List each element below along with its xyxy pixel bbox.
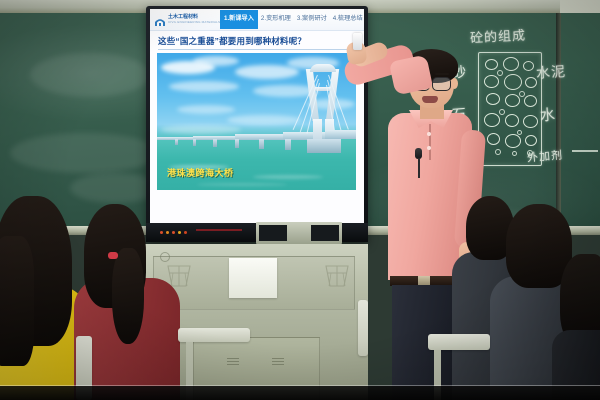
presentation-clicker[interactable]: [353, 33, 362, 50]
teacher-eyebrow: [435, 73, 449, 75]
indicator-led: [172, 231, 175, 234]
slide-tab-2[interactable]: 2.变形机理: [258, 12, 294, 26]
slide-brand: 土木工程材料 CIVIL ENGINEERING MATERIALS: [150, 14, 220, 25]
blackboard-frame: [556, 13, 561, 231]
display-mount-bracket: [256, 222, 342, 244]
chalk-aggregate-diagram: [478, 52, 542, 166]
shirt-button: [427, 132, 431, 136]
slide-heading: 这些“国之重器”都要用到哪种材料呢？: [158, 35, 306, 47]
brand-subtitle: CIVIL ENGINEERING MATERIALS: [168, 20, 220, 24]
slide-tab-3[interactable]: 3.案例研讨: [294, 12, 330, 26]
shirt-button: [427, 146, 431, 150]
paper-sheet: [229, 258, 277, 298]
teacher-ear: [451, 78, 458, 89]
podium-logo-icon: [160, 252, 170, 262]
teacher-mouth: [422, 96, 438, 103]
vent-icon: [227, 358, 239, 366]
vent-icon: [272, 358, 284, 366]
slide-tab-4[interactable]: 4.梳理总结: [330, 12, 364, 26]
microphone-wire: [418, 158, 420, 178]
glasses-icon: [432, 77, 451, 91]
indicator-led: [184, 231, 187, 234]
slide-navigation-bar: 土木工程材料 CIVIL ENGINEERING MATERIALS 1.新课导…: [150, 9, 364, 31]
slide-tab-1[interactable]: 1.新课导入: [220, 10, 258, 28]
bottom-letterbox-bar: [0, 386, 600, 400]
hair-tie: [108, 252, 118, 259]
smart-board-screen[interactable]: 土木工程材料 CIVIL ENGINEERING MATERIALS 1.新课导…: [150, 9, 364, 223]
chair-back: [178, 328, 250, 342]
arch-house-icon: [154, 14, 166, 25]
chalk-stroke: [572, 150, 598, 152]
chair-back: [358, 300, 368, 356]
indicator-led: [160, 231, 163, 234]
title-divider: [158, 49, 354, 50]
indicator-led: [178, 231, 181, 234]
photo-caption: 港珠澳跨海大桥: [167, 166, 234, 179]
chalk-heading: 砼的组成: [470, 25, 527, 47]
teacher-placket: [429, 124, 431, 160]
bridge-photo: 港珠澳跨海大桥: [157, 53, 356, 190]
chair-back: [428, 334, 490, 350]
indicator-led: [166, 231, 169, 234]
waste-basket-icon: [322, 262, 352, 288]
classroom-scene: 砼的组成 砂 石 水泥 水 掺和料 外加剂: [0, 0, 600, 400]
bezel-accent: [196, 229, 242, 231]
